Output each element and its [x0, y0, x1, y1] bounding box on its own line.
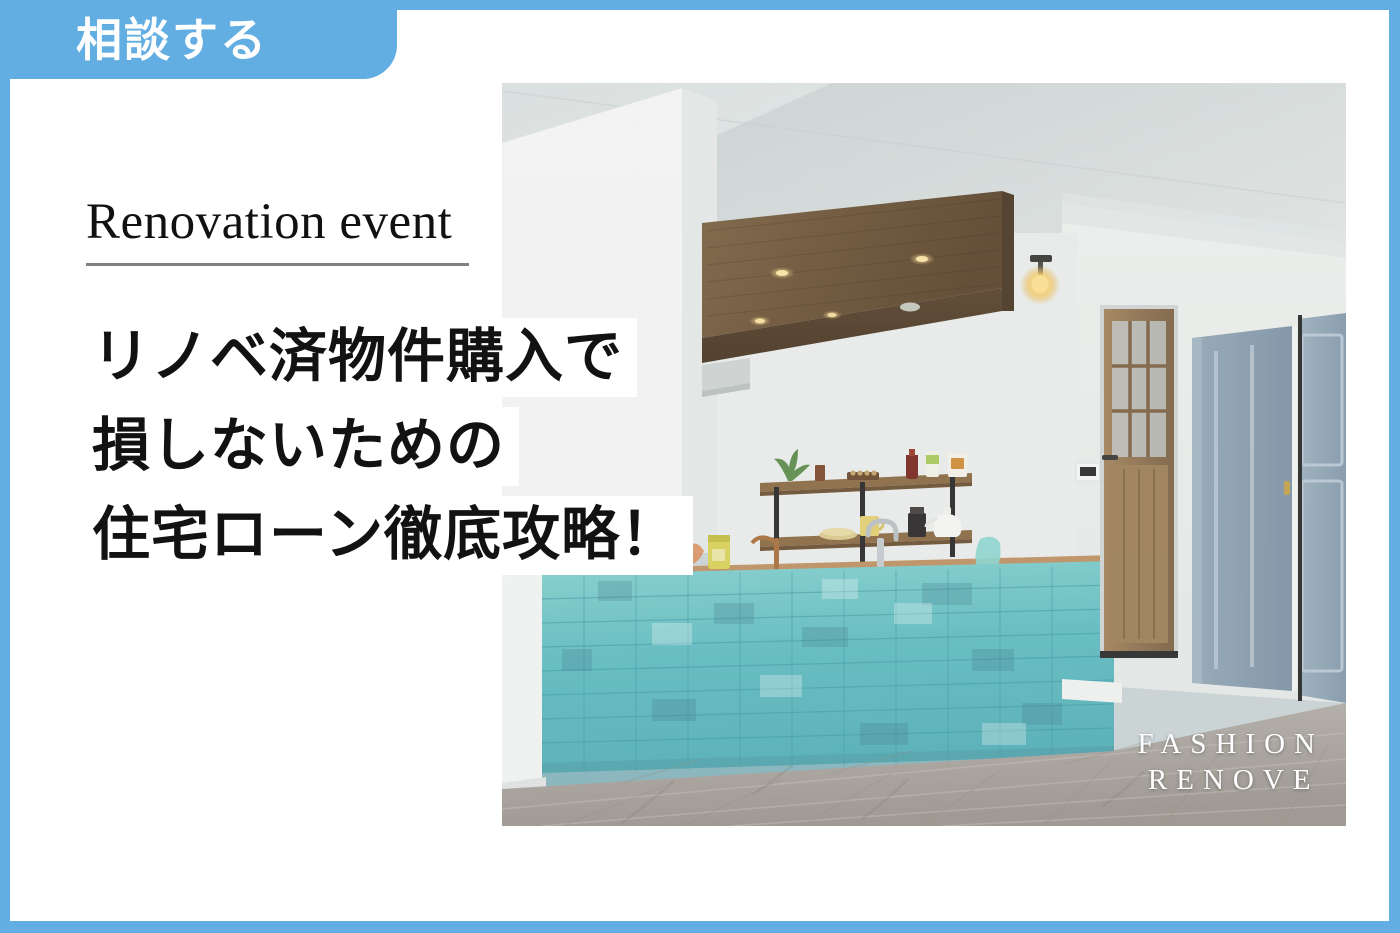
photo-watermark: FASHION RENOVE: [1137, 726, 1324, 799]
watermark-line-1: FASHION: [1137, 726, 1324, 762]
headline-line-3: 住宅ローン徹底攻略！: [72, 496, 693, 575]
headline-block: リノベ済物件購入で 損しないための 住宅ローン徹底攻略！: [72, 318, 693, 575]
frame-bottom-border: [0, 921, 1400, 933]
frame-left-border: [0, 0, 10, 933]
eyebrow-divider: [86, 263, 469, 266]
eyebrow-text: Renovation event: [86, 196, 471, 250]
consult-tab[interactable]: 相談する: [0, 0, 397, 79]
headline-line-2: 損しないための: [72, 407, 519, 486]
watermark-line-2: RENOVE: [1137, 762, 1324, 798]
headline-line-1: リノベ済物件購入で: [72, 318, 637, 397]
eyebrow-block: Renovation event: [86, 196, 471, 266]
consult-tab-label: 相談する: [76, 17, 268, 63]
renovation-event-banner: 相談する: [0, 0, 1400, 933]
frame-right-border: [1389, 0, 1400, 933]
